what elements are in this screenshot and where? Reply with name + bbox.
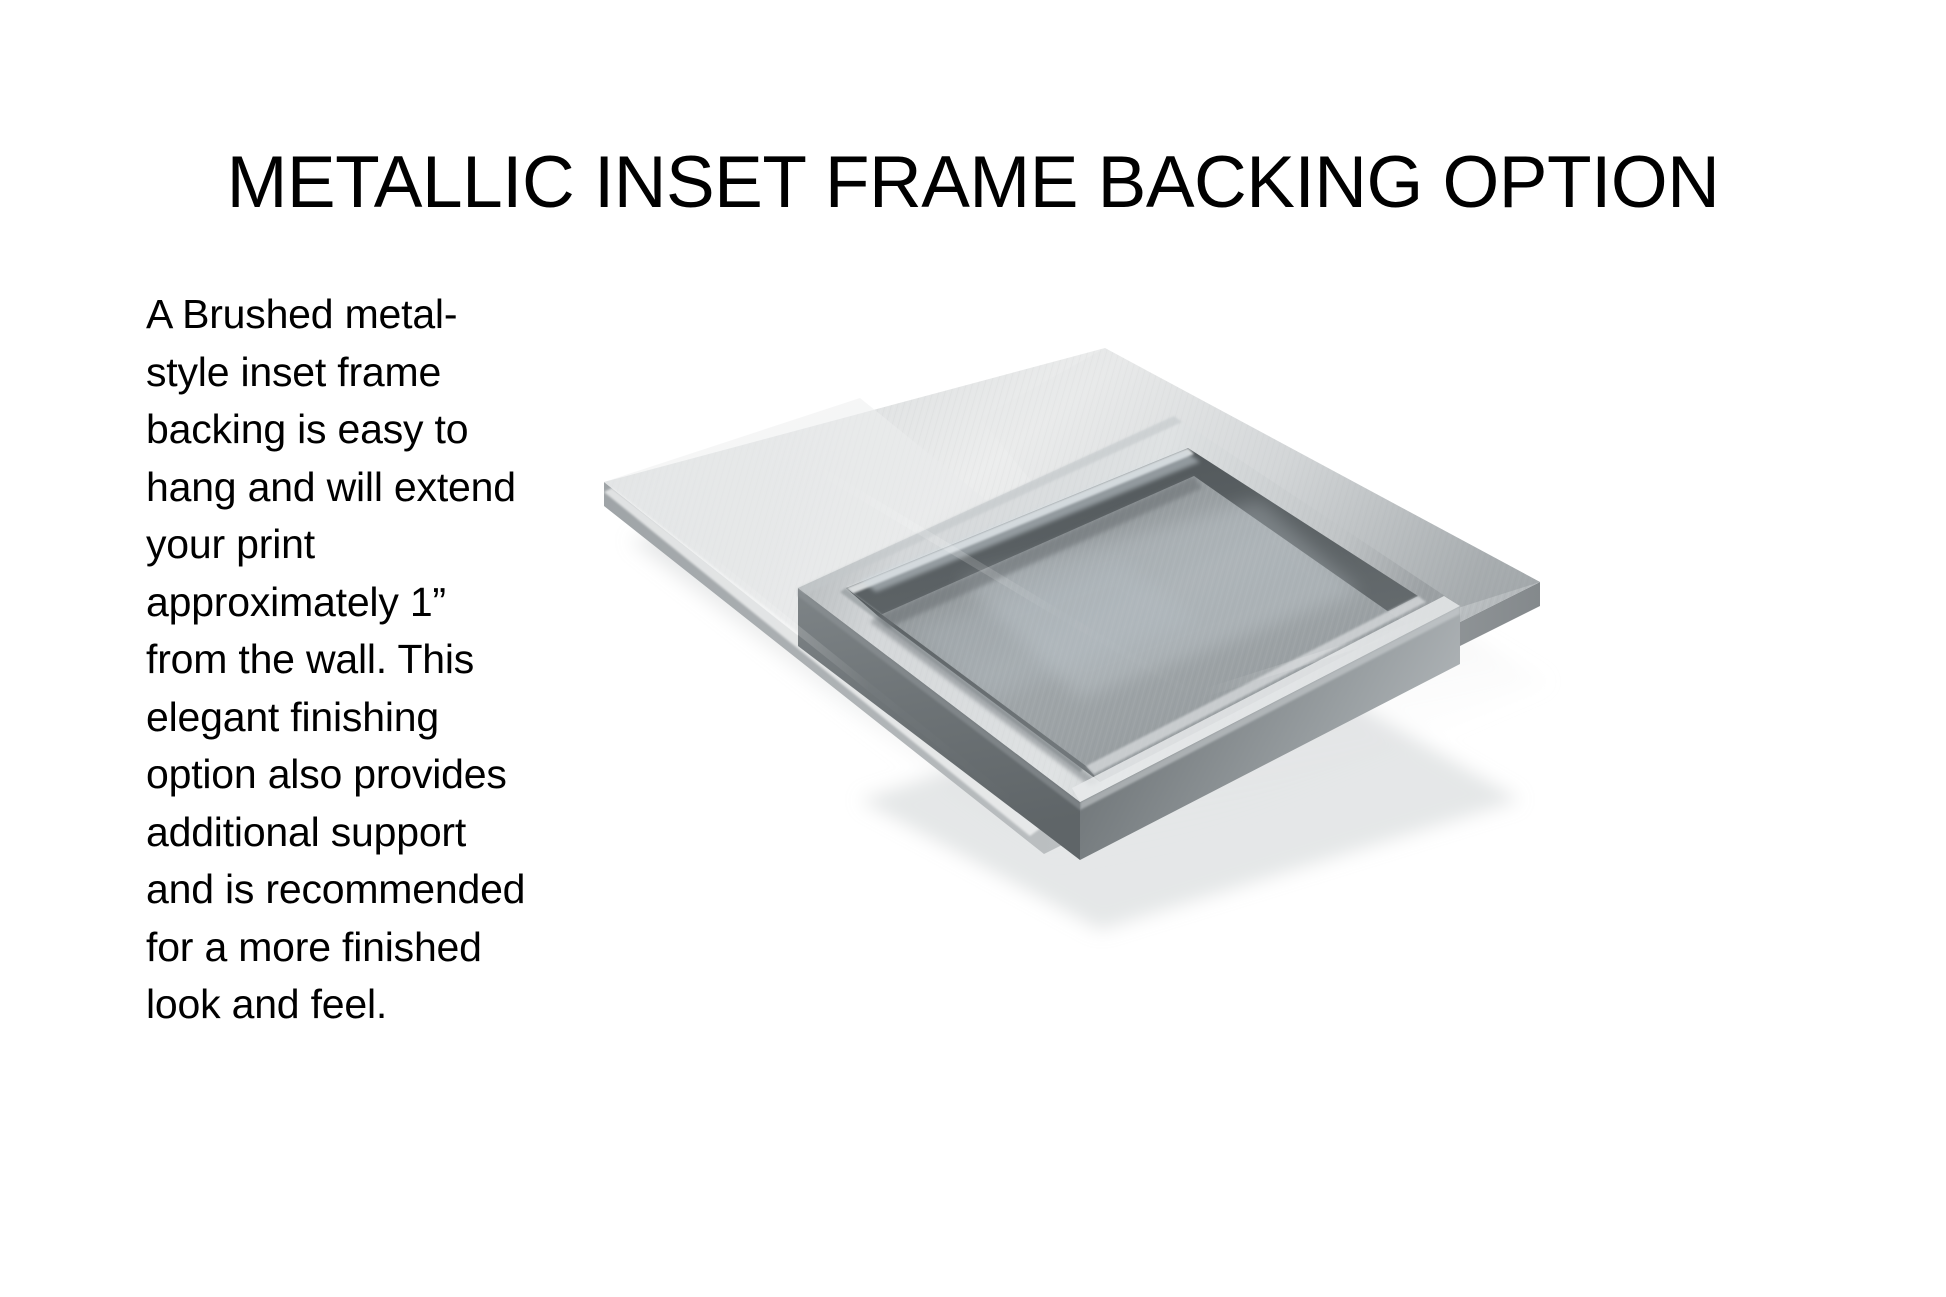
slide-canvas: METALLIC INSET FRAME BACKING OPTION A Br… bbox=[0, 0, 1946, 1297]
inset-frame-illustration bbox=[560, 330, 1580, 950]
page-title: METALLIC INSET FRAME BACKING OPTION bbox=[0, 145, 1946, 222]
body-paragraph: A Brushed metal-style inset frame backin… bbox=[146, 286, 538, 1034]
product-photo-inset-frame-backing bbox=[560, 330, 1580, 950]
